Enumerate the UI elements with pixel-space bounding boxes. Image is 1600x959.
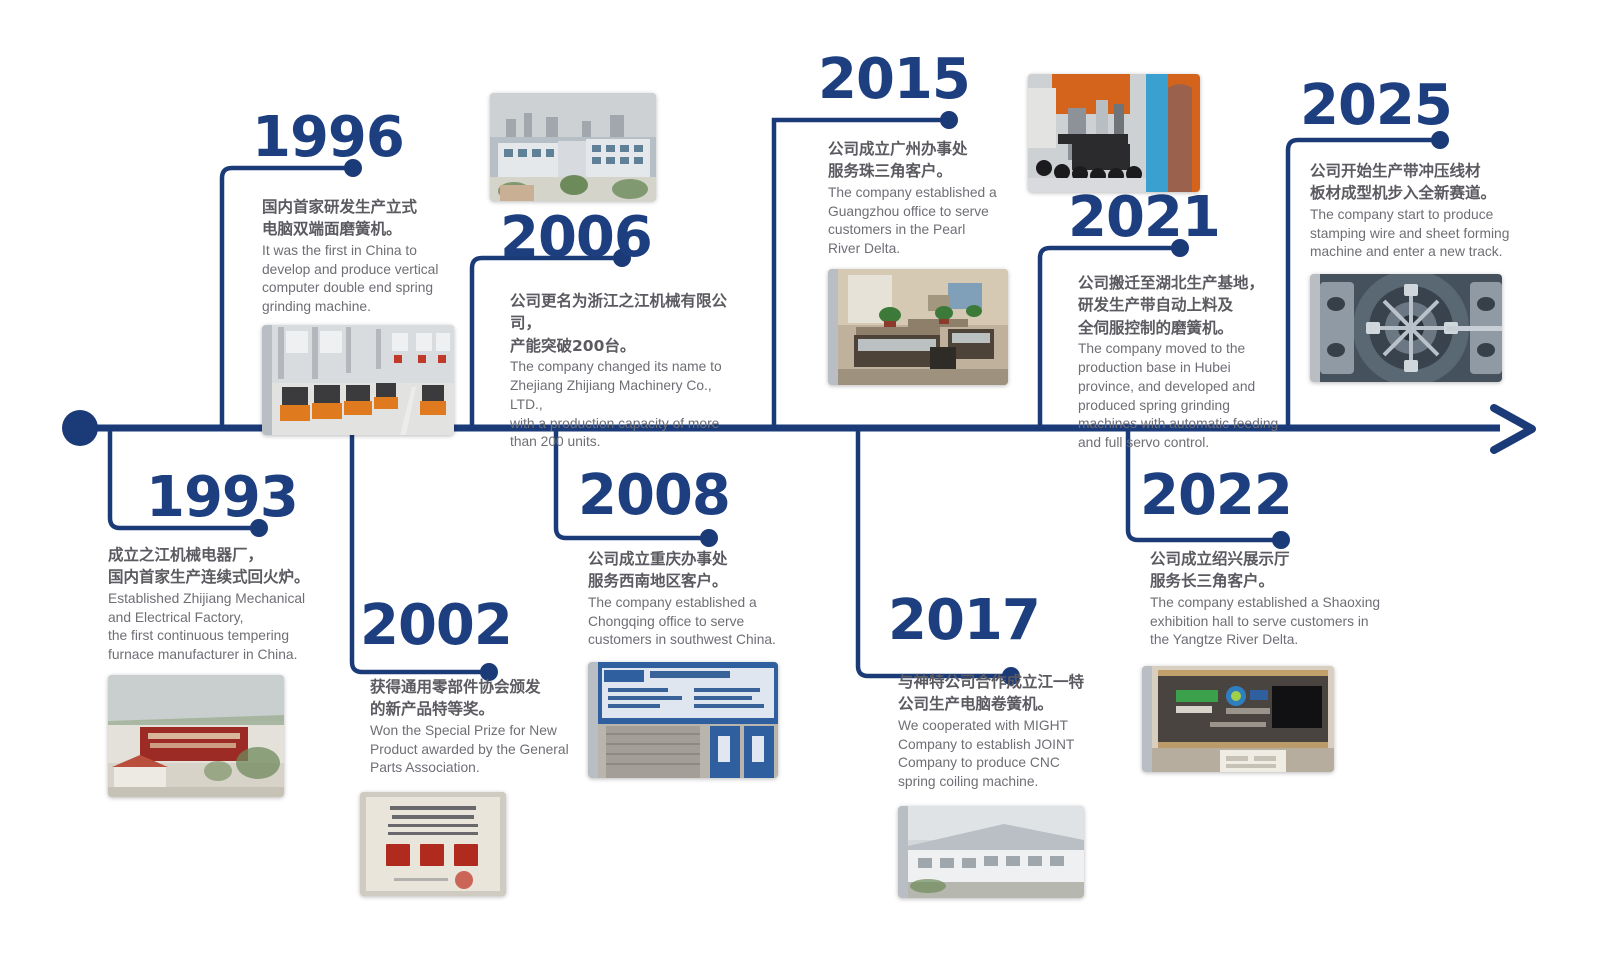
event-description-1996: 国内首家研发生产立式 电脑双端面磨簧机。 It was the first in… [252,196,457,317]
event-year-2015: 2015 [818,52,1008,108]
event-year-2006: 2006 [500,210,740,266]
event-year-2025: 2025 [1300,78,1510,134]
timeline-event-2002[interactable]: 2002 获得通用零部件协会颁发 的新产品特等奖。 Won the Specia… [360,598,580,896]
timeline-event-2021[interactable]: 2021 公司搬迁至湖北生产基地， 研发生产带自动上料及 全伺服控制的磨簧机。 … [1068,190,1293,453]
event-text-cn-2015: 公司成立广州办事处 服务珠三角客户。 [828,138,1008,183]
automatic-feeder-photo [1028,74,1200,192]
plant-building-photo [898,806,1084,898]
event-text-cn-2017: 与神特公司合作成立江一特 公司生产电脑卷簧机。 [898,671,1088,716]
event-description-1993: 成立之江机械电器厂， 国内首家生产连续式回火炉。 Established Zhi… [108,544,358,665]
event-text-cn-2006: 公司更名为浙江之江机械有限公司， 产能突破200台。 [510,290,740,357]
event-year-2002: 2002 [360,598,580,654]
award-certificate-photo [360,792,506,896]
timeline-infographic: 1993 成立之江机械电器厂， 国内首家生产连续式回火炉。 Establishe… [0,0,1600,959]
event-text-en-2025: The company start to produce stamping wi… [1310,206,1510,262]
event-text-cn-2008: 公司成立重庆办事处 服务西南地区客户。 [588,548,808,593]
axis-arrow-head [1494,408,1532,450]
event-text-cn-2022: 公司成立绍兴展示厅 服务长三角客户。 [1150,548,1395,593]
company-campus-photo [490,93,656,201]
axis-start-dot [62,410,98,446]
event-description-2002: 获得通用零部件协会颁发 的新产品特等奖。 Won the Special Pri… [360,676,580,778]
timeline-event-2022[interactable]: 2022 公司成立绍兴展示厅 服务长三角客户。 The company esta… [1140,468,1395,772]
event-description-2025: 公司开始生产带冲压线材 板材成型机步入全新赛道。 The company sta… [1300,160,1510,262]
event-text-en-2015: The company established a Guangzhou offi… [828,184,1008,259]
event-text-en-2017: We cooperated with MIGHT Company to esta… [898,717,1088,792]
event-text-cn-2002: 获得通用零部件协会颁发 的新产品特等奖。 [370,676,580,721]
timeline-event-2017[interactable]: 2017 与神特公司合作成立江一特 公司生产电脑卷簧机。 We cooperat… [888,593,1088,898]
timeline-event-1996[interactable]: 1996 国内首家研发生产立式 电脑双端面磨簧机。 It was the fir… [252,110,457,435]
event-year-2022: 2022 [1140,468,1395,524]
event-text-cn-1996: 国内首家研发生产立式 电脑双端面磨簧机。 [262,196,457,241]
showroom-wall-photo [1142,666,1334,772]
event-description-2017: 与神特公司合作成立江一特 公司生产电脑卷簧机。 We cooperated wi… [888,671,1088,792]
event-text-en-1993: Established Zhijiang Mechanical and Elec… [108,590,358,665]
event-text-en-2022: The company established a Shaoxing exhib… [1150,594,1395,650]
event-year-2017: 2017 [888,593,1088,649]
timeline-event-1993[interactable]: 1993 成立之江机械电器厂， 国内首家生产连续式回火炉。 Establishe… [108,470,358,797]
workshop-machines-photo [262,325,454,435]
event-year-1996: 1996 [252,110,457,166]
event-text-en-2008: The company established a Chongqing offi… [588,594,808,650]
timeline-event-2006[interactable]: 2006 公司更名为浙江之江机械有限公司， 产能突破200台。 The comp… [500,210,740,452]
exhibition-booth-photo [588,662,778,778]
event-description-2021: 公司搬迁至湖北生产基地， 研发生产带自动上料及 全伺服控制的磨簧机。 The c… [1068,272,1293,453]
event-text-cn-1993: 成立之江机械电器厂， 国内首家生产连续式回火炉。 [108,544,358,589]
event-text-en-1996: It was the first in China to develop and… [262,242,457,317]
timeline-event-2008[interactable]: 2008 公司成立重庆办事处 服务西南地区客户。 The company est… [578,468,808,778]
event-text-en-2006: The company changed its name to Zhejiang… [510,358,740,452]
event-year-2008: 2008 [578,468,808,524]
event-description-2022: 公司成立绍兴展示厅 服务长三角客户。 The company establish… [1140,548,1395,650]
forming-machine-photo [1310,274,1502,382]
factory-gate-photo [108,675,284,797]
timeline-event-2025[interactable]: 2025 公司开始生产带冲压线材 板材成型机步入全新赛道。 The compan… [1300,78,1510,382]
event-text-cn-2025: 公司开始生产带冲压线材 板材成型机步入全新赛道。 [1310,160,1510,205]
event-text-en-2021: The company moved to the production base… [1078,340,1293,453]
event-text-en-2002: Won the Special Prize for New Product aw… [370,722,580,778]
event-text-cn-2021: 公司搬迁至湖北生产基地， 研发生产带自动上料及 全伺服控制的磨簧机。 [1078,272,1293,339]
event-year-1993: 1993 [146,470,358,526]
event-year-2021: 2021 [1068,190,1293,246]
timeline-event-2015[interactable]: 2015 公司成立广州办事处 服务珠三角客户。 The company esta… [818,52,1008,385]
event-description-2006: 公司更名为浙江之江机械有限公司， 产能突破200台。 The company c… [500,290,740,452]
event-description-2015: 公司成立广州办事处 服务珠三角客户。 The company establish… [818,138,1008,259]
office-interior-photo [828,269,1008,385]
event-description-2008: 公司成立重庆办事处 服务西南地区客户。 The company establis… [578,548,808,650]
